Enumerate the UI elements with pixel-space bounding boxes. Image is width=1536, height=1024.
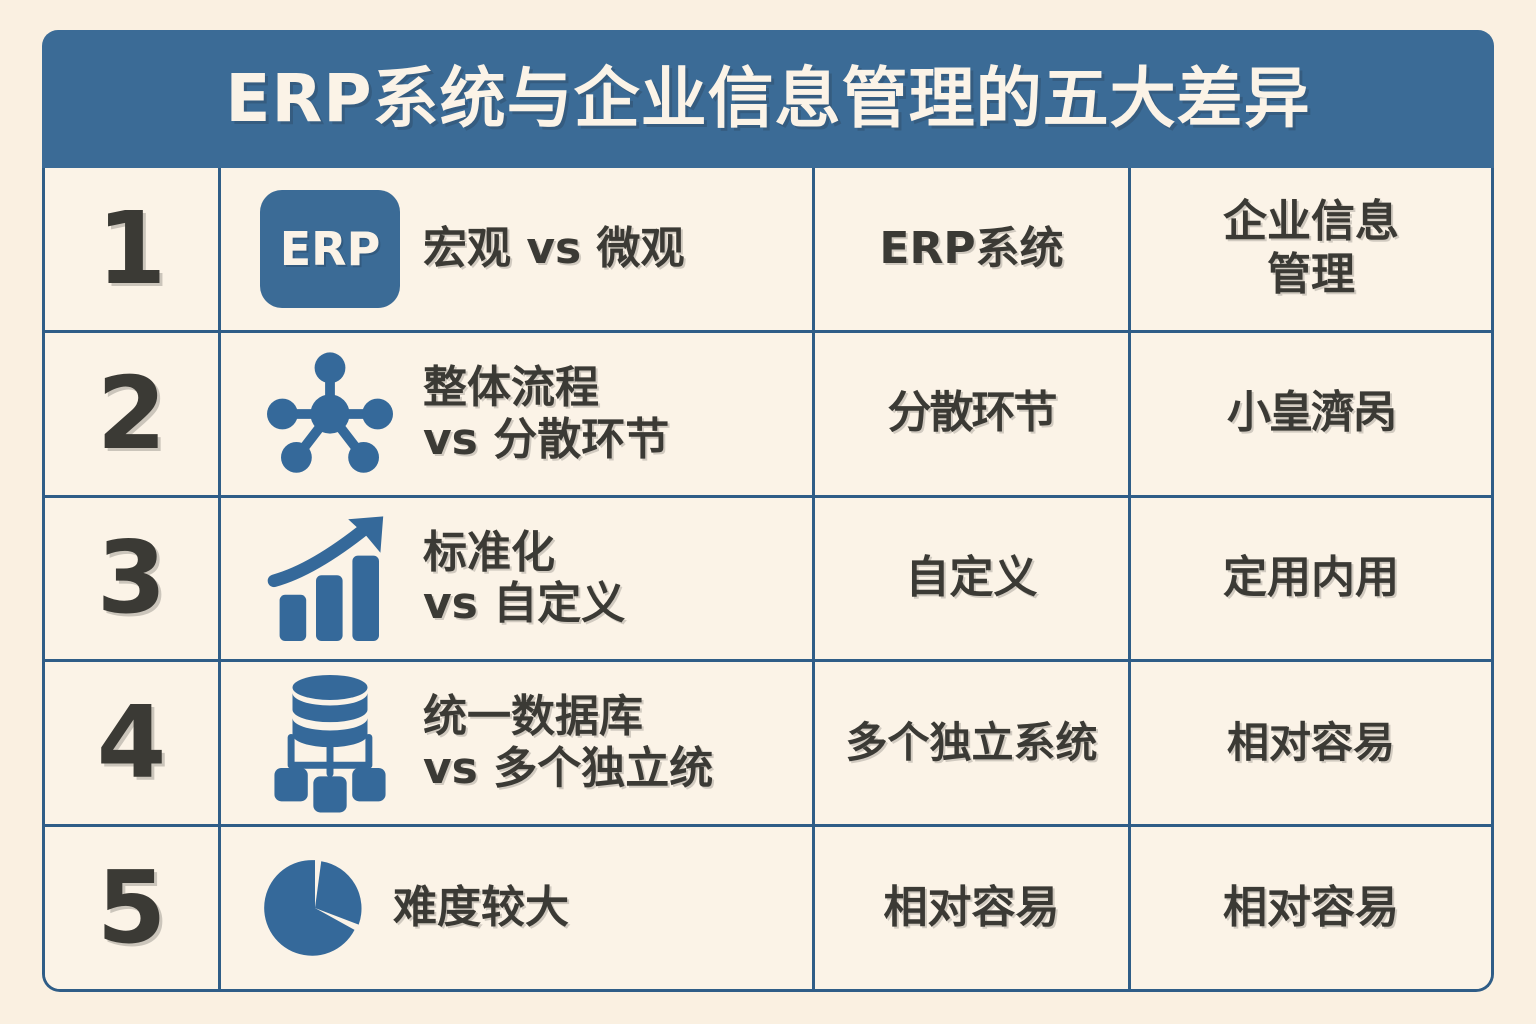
erp-value: 分散环节 bbox=[888, 387, 1056, 440]
eim-value: 小皇濟呙 bbox=[1227, 387, 1395, 440]
table-row: 3 标准化 vs 自定义 自定义 bbox=[45, 498, 1491, 663]
eim-value: 相对容易 bbox=[1227, 718, 1395, 768]
pie-chart-icon bbox=[255, 858, 375, 958]
eim-value-cell: 相对容易 bbox=[1131, 662, 1491, 824]
row-number-cell: 5 bbox=[45, 827, 221, 989]
bar-chart-growth-icon bbox=[255, 503, 405, 653]
row-number-cell: 1 bbox=[45, 168, 221, 330]
row-number: 1 bbox=[97, 199, 167, 299]
eim-value-cell: 相对容易 bbox=[1131, 827, 1491, 989]
row-topic-label: 难度较大 bbox=[393, 882, 569, 934]
row-topic-cell: 统一数据库 vs 多个独立统 bbox=[221, 662, 815, 824]
eim-value: 定用内用 bbox=[1223, 552, 1399, 605]
poster-header: ERP系统与企业信息管理的五大差异 bbox=[42, 30, 1494, 168]
erp-value: 自定义 bbox=[906, 552, 1038, 605]
eim-value: 企业信息 管理 bbox=[1223, 196, 1399, 302]
infographic-poster: ERP系统与企业信息管理的五大差异 1 ERP 宏观 vs 微观 ERP系统 企… bbox=[42, 30, 1494, 992]
row-topic-label: 标准化 vs 自定义 bbox=[423, 527, 625, 631]
row-number: 4 bbox=[97, 693, 167, 793]
table-row: 4 bbox=[45, 662, 1491, 827]
network-hub-icon bbox=[255, 339, 405, 489]
erp-value-cell: 分散环节 bbox=[815, 333, 1131, 495]
erp-value: 相对容易 bbox=[884, 882, 1060, 935]
eim-value-cell: 企业信息 管理 bbox=[1131, 168, 1491, 330]
row-number-cell: 2 bbox=[45, 333, 221, 495]
row-number: 5 bbox=[97, 858, 167, 958]
row-topic-label: 整体流程 vs 分散环节 bbox=[423, 362, 669, 466]
row-number-cell: 3 bbox=[45, 498, 221, 660]
row-topic-cell: ERP 宏观 vs 微观 bbox=[221, 168, 815, 330]
row-topic-cell: 难度较大 bbox=[221, 827, 815, 989]
row-topic-label: 统一数据库 vs 多个独立统 bbox=[423, 691, 713, 795]
erp-value-cell: ERP系统 bbox=[815, 168, 1131, 330]
erp-value: ERP系统 bbox=[879, 223, 1063, 276]
erp-value-cell: 多个独立系统 bbox=[815, 662, 1131, 824]
eim-value: 相对容易 bbox=[1223, 882, 1399, 935]
erp-badge-icon: ERP bbox=[255, 174, 405, 324]
erp-value: 多个独立系统 bbox=[845, 718, 1097, 768]
table-row: 5 难度较大 相对容易 相对容易 bbox=[45, 827, 1491, 989]
table-row: 1 ERP 宏观 vs 微观 ERP系统 企业信息 管理 bbox=[45, 168, 1491, 333]
row-number-cell: 4 bbox=[45, 662, 221, 824]
erp-value-cell: 自定义 bbox=[815, 498, 1131, 660]
page-title: ERP系统与企业信息管理的五大差异 bbox=[225, 66, 1310, 132]
erp-value-cell: 相对容易 bbox=[815, 827, 1131, 989]
erp-badge-label: ERP bbox=[280, 222, 381, 276]
row-number: 3 bbox=[97, 528, 167, 628]
row-topic-cell: 标准化 vs 自定义 bbox=[221, 498, 815, 660]
eim-value-cell: 定用内用 bbox=[1131, 498, 1491, 660]
row-topic-label: 宏观 vs 微观 bbox=[423, 223, 685, 275]
row-number: 2 bbox=[97, 364, 167, 464]
comparison-table: 1 ERP 宏观 vs 微观 ERP系统 企业信息 管理 2 bbox=[42, 168, 1494, 992]
database-nodes-icon bbox=[255, 668, 405, 818]
row-topic-cell: 整体流程 vs 分散环节 bbox=[221, 333, 815, 495]
table-row: 2 bbox=[45, 333, 1491, 498]
eim-value-cell: 小皇濟呙 bbox=[1131, 333, 1491, 495]
